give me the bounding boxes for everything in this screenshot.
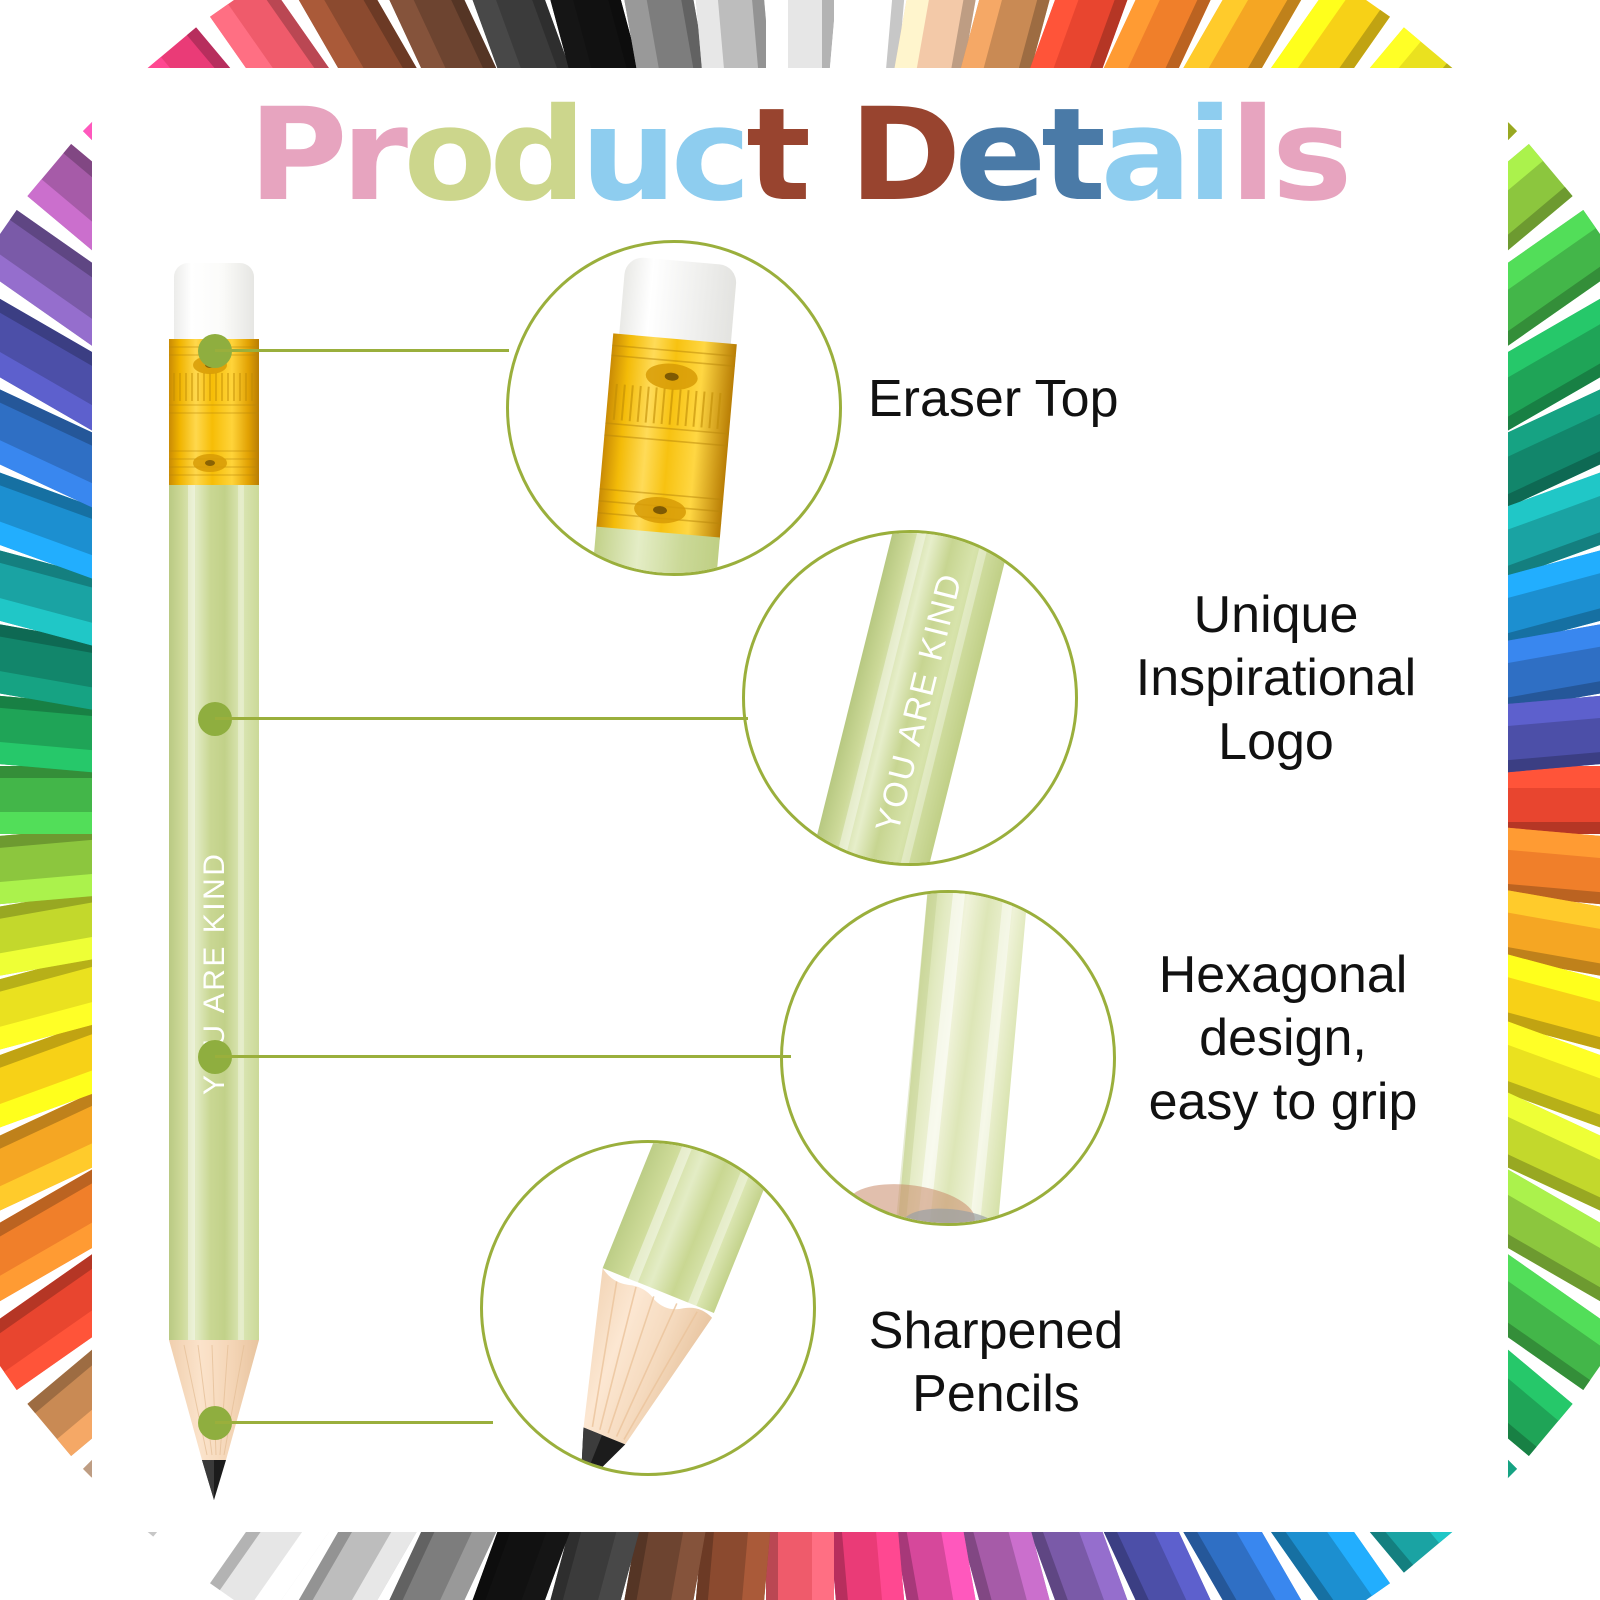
callout-leader-eraser-top [215, 349, 509, 352]
callout-label-inspirational-logo: Unique Inspirational Logo [1096, 584, 1456, 774]
title-letter-2: o [403, 92, 495, 220]
callout-leader-inspirational-logo [215, 717, 748, 720]
callout-label-eraser-top: Eraser Top [868, 368, 1288, 431]
title-letter-11: a [1101, 92, 1191, 220]
title-letter-10: t [1041, 92, 1105, 220]
callout-circle-inspirational-logo: YOU ARE KIND [742, 530, 1078, 866]
infographic-root: Product Details [0, 0, 1600, 1600]
eraser-part [174, 263, 254, 343]
title-letter-9: e [955, 92, 1046, 220]
callout-leader-hexagonal-design [215, 1055, 791, 1058]
title-letter-5: c [671, 92, 750, 220]
page-title: Product Details [0, 92, 1600, 220]
title-letter-0: P [248, 92, 346, 220]
callout-circle-hexagonal-design [780, 890, 1116, 1226]
title-letter-8: D [849, 92, 961, 220]
callout-circle-eraser-top [506, 240, 842, 576]
title-letter-14: s [1272, 92, 1352, 220]
title-letter-1: r [342, 92, 408, 220]
title-letter-6: t [746, 92, 810, 220]
title-letter-12: i [1187, 92, 1232, 220]
callout-label-sharpened-pencils: Sharpened Pencils [836, 1300, 1156, 1427]
title-letter-3: d [490, 92, 586, 220]
callout-leader-sharpened-pencils [215, 1421, 493, 1424]
hero-pencil-illustration: YOU ARE KIND [150, 255, 290, 1500]
callout-circle-sharpened-pencils [480, 1140, 816, 1476]
title-letter-13: l [1230, 92, 1275, 220]
title-letter-7 [807, 92, 853, 220]
title-letter-4: u [580, 92, 676, 220]
callout-label-hexagonal-design: Hexagonal design, easy to grip [1088, 944, 1478, 1134]
